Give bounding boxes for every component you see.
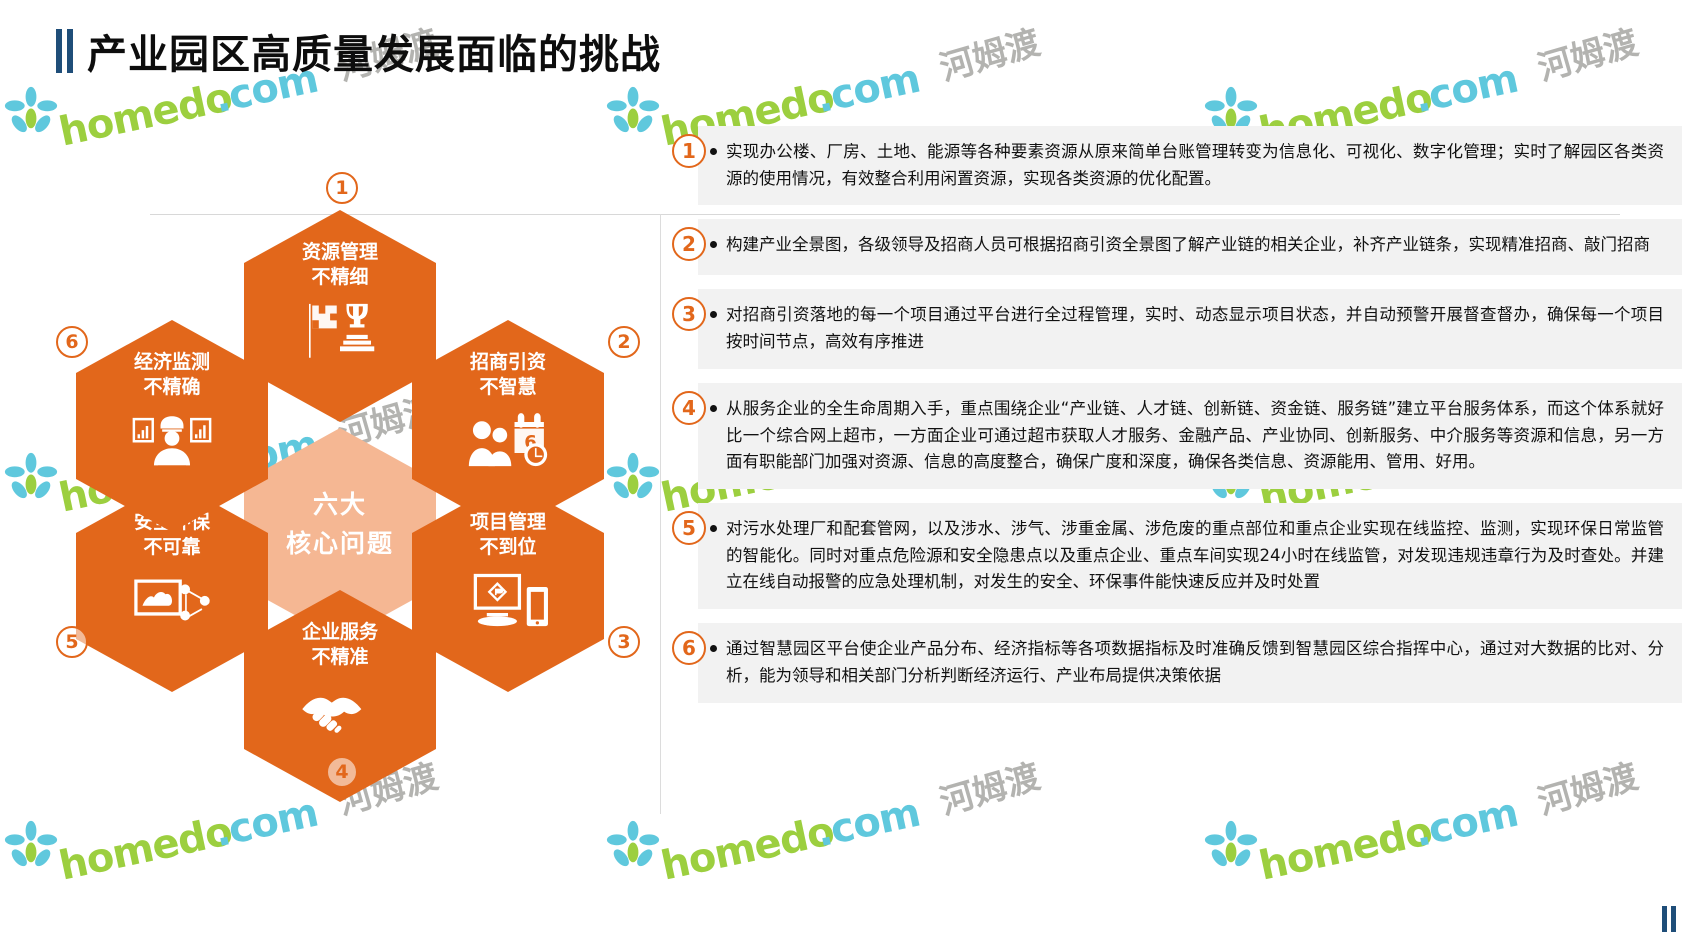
hex-number-3: 3 bbox=[608, 626, 640, 658]
watermark-brand: homedo bbox=[1255, 808, 1436, 889]
watermark-domain: .com bbox=[812, 56, 923, 123]
item-number-badge: 4 bbox=[672, 391, 706, 425]
bullet-icon bbox=[710, 645, 717, 652]
hex-label: 招商引资 不智慧 bbox=[470, 350, 546, 399]
bullet-icon bbox=[710, 148, 717, 155]
watermark-cn: 河姆渡 bbox=[1531, 749, 1643, 824]
item-body: 通过智慧园区平台使企业产品分布、经济指标等各项数据指标及时准确反馈到智慧园区综合… bbox=[698, 623, 1682, 702]
hex-number-1: 1 bbox=[326, 172, 358, 204]
watermark-brand: homedo bbox=[657, 808, 838, 889]
bullet-icon bbox=[710, 525, 717, 532]
list-item[interactable]: 6 通过智慧园区平台使企业产品分布、经济指标等各项数据指标及时准确反馈到智慧园区… bbox=[672, 623, 1682, 702]
challenge-list: 1 实现办公楼、厂房、土地、能源等各种要素资源从原来简单台账管理转变为信息化、可… bbox=[672, 126, 1682, 717]
people-calendar-clock-icon: 6 bbox=[467, 409, 549, 471]
hex-number-5: 5 bbox=[56, 626, 88, 658]
watermark-domain: .com bbox=[1410, 790, 1521, 857]
hexagon-diagram: 六大 核心问题 资源管理 不精细 1 招商引资 不智慧 6 2 项目管理 不到位… bbox=[20, 150, 660, 810]
hex-label: 资源管理 不精细 bbox=[302, 240, 378, 289]
flower-logo-icon bbox=[606, 86, 660, 140]
flower-logo-icon bbox=[1204, 820, 1258, 874]
page-header: 产业园区高质量发展面临的挑战 bbox=[56, 22, 661, 80]
hex-label: 经济监测 不精确 bbox=[134, 350, 210, 399]
watermark-brand: homedo bbox=[55, 808, 236, 889]
bullet-icon bbox=[710, 241, 717, 248]
item-number-badge: 1 bbox=[672, 134, 706, 168]
watermark-domain: .com bbox=[812, 790, 923, 857]
worker-charts-icon bbox=[131, 409, 213, 471]
watermark-domain: .com bbox=[1410, 56, 1521, 123]
item-number-badge: 6 bbox=[672, 631, 706, 665]
environment-monitor-icon bbox=[131, 569, 213, 631]
item-body: 构建产业全景图，各级领导及招商人员可根据招商引资全景图了解产业链的相关企业，补齐… bbox=[698, 219, 1682, 275]
watermark-cn: 河姆渡 bbox=[933, 15, 1045, 90]
item-text: 通过智慧园区平台使企业产品分布、经济指标等各项数据指标及时准确反馈到智慧园区综合… bbox=[726, 636, 1664, 689]
hex-number-4: 4 bbox=[326, 756, 358, 788]
flower-logo-icon bbox=[606, 820, 660, 874]
flower-logo-icon bbox=[4, 820, 58, 874]
item-text: 对招商引资落地的每一个项目通过平台进行全过程管理，实时、动态显示项目状态，并自动… bbox=[726, 302, 1664, 355]
bullet-icon bbox=[710, 311, 717, 318]
item-body: 从服务企业的全生命周期入手，重点围绕企业“产业链、人才链、创新链、资金链、服务链… bbox=[698, 383, 1682, 489]
footer-accent-bars bbox=[1662, 906, 1676, 932]
hex-label: 企业服务 不精准 bbox=[302, 620, 378, 669]
list-item[interactable]: 3 对招商引资落地的每一个项目通过平台进行全过程管理，实时、动态显示项目状态，并… bbox=[672, 289, 1682, 368]
item-body: 对污水处理厂和配套管网，以及涉水、涉气、涉重金属、涉危废的重点部位和重点企业实现… bbox=[698, 503, 1682, 609]
item-body: 实现办公楼、厂房、土地、能源等各种要素资源从原来简单台账管理转变为信息化、可视化… bbox=[698, 126, 1682, 205]
item-body: 对招商引资落地的每一个项目通过平台进行全过程管理，实时、动态显示项目状态，并自动… bbox=[698, 289, 1682, 368]
watermark-brand: homedo bbox=[55, 74, 236, 155]
hex-economic-monitoring[interactable]: 经济监测 不精确 bbox=[76, 320, 268, 532]
list-item[interactable]: 2 构建产业全景图，各级领导及招商人员可根据招商引资全景图了解产业链的相关企业，… bbox=[672, 219, 1682, 275]
list-item[interactable]: 1 实现办公楼、厂房、土地、能源等各种要素资源从原来简单台账管理转变为信息化、可… bbox=[672, 126, 1682, 205]
list-item[interactable]: 4 从服务企业的全生命周期入手，重点围绕企业“产业链、人才链、创新链、资金链、服… bbox=[672, 383, 1682, 489]
hex-project-management[interactable]: 项目管理 不到位 bbox=[412, 480, 604, 692]
hex-resource-management[interactable]: 资源管理 不精细 bbox=[244, 210, 436, 422]
monitor-phone-icon bbox=[467, 569, 549, 631]
watermark-cn: 河姆渡 bbox=[1531, 15, 1643, 90]
list-item[interactable]: 5 对污水处理厂和配套管网，以及涉水、涉气、涉重金属、涉危废的重点部位和重点企业… bbox=[672, 503, 1682, 609]
item-text: 构建产业全景图，各级领导及招商人员可根据招商引资全景图了解产业链的相关企业，补齐… bbox=[726, 232, 1664, 259]
flag-trophy-icon bbox=[299, 299, 381, 361]
flower-logo-icon bbox=[4, 86, 58, 140]
item-number-badge: 5 bbox=[672, 511, 706, 545]
watermark-cn: 河姆渡 bbox=[933, 749, 1045, 824]
item-text: 实现办公楼、厂房、土地、能源等各种要素资源从原来简单台账管理转变为信息化、可视化… bbox=[726, 139, 1664, 192]
bullet-icon bbox=[710, 405, 717, 412]
title-accent-bars bbox=[56, 29, 73, 73]
hex-number-6: 6 bbox=[56, 326, 88, 358]
hex-number-2: 2 bbox=[608, 326, 640, 358]
item-text: 对污水处理厂和配套管网，以及涉水、涉气、涉重金属、涉危废的重点部位和重点企业实现… bbox=[726, 516, 1664, 596]
hex-center-label: 六大 核心问题 bbox=[286, 458, 394, 564]
item-text: 从服务企业的全生命周期入手，重点围绕企业“产业链、人才链、创新链、资金链、服务链… bbox=[726, 396, 1664, 476]
vertical-divider bbox=[660, 214, 661, 814]
handshake-icon bbox=[299, 679, 381, 741]
hex-label: 项目管理 不到位 bbox=[470, 510, 546, 559]
page-title: 产业园区高质量发展面临的挑战 bbox=[87, 22, 661, 80]
